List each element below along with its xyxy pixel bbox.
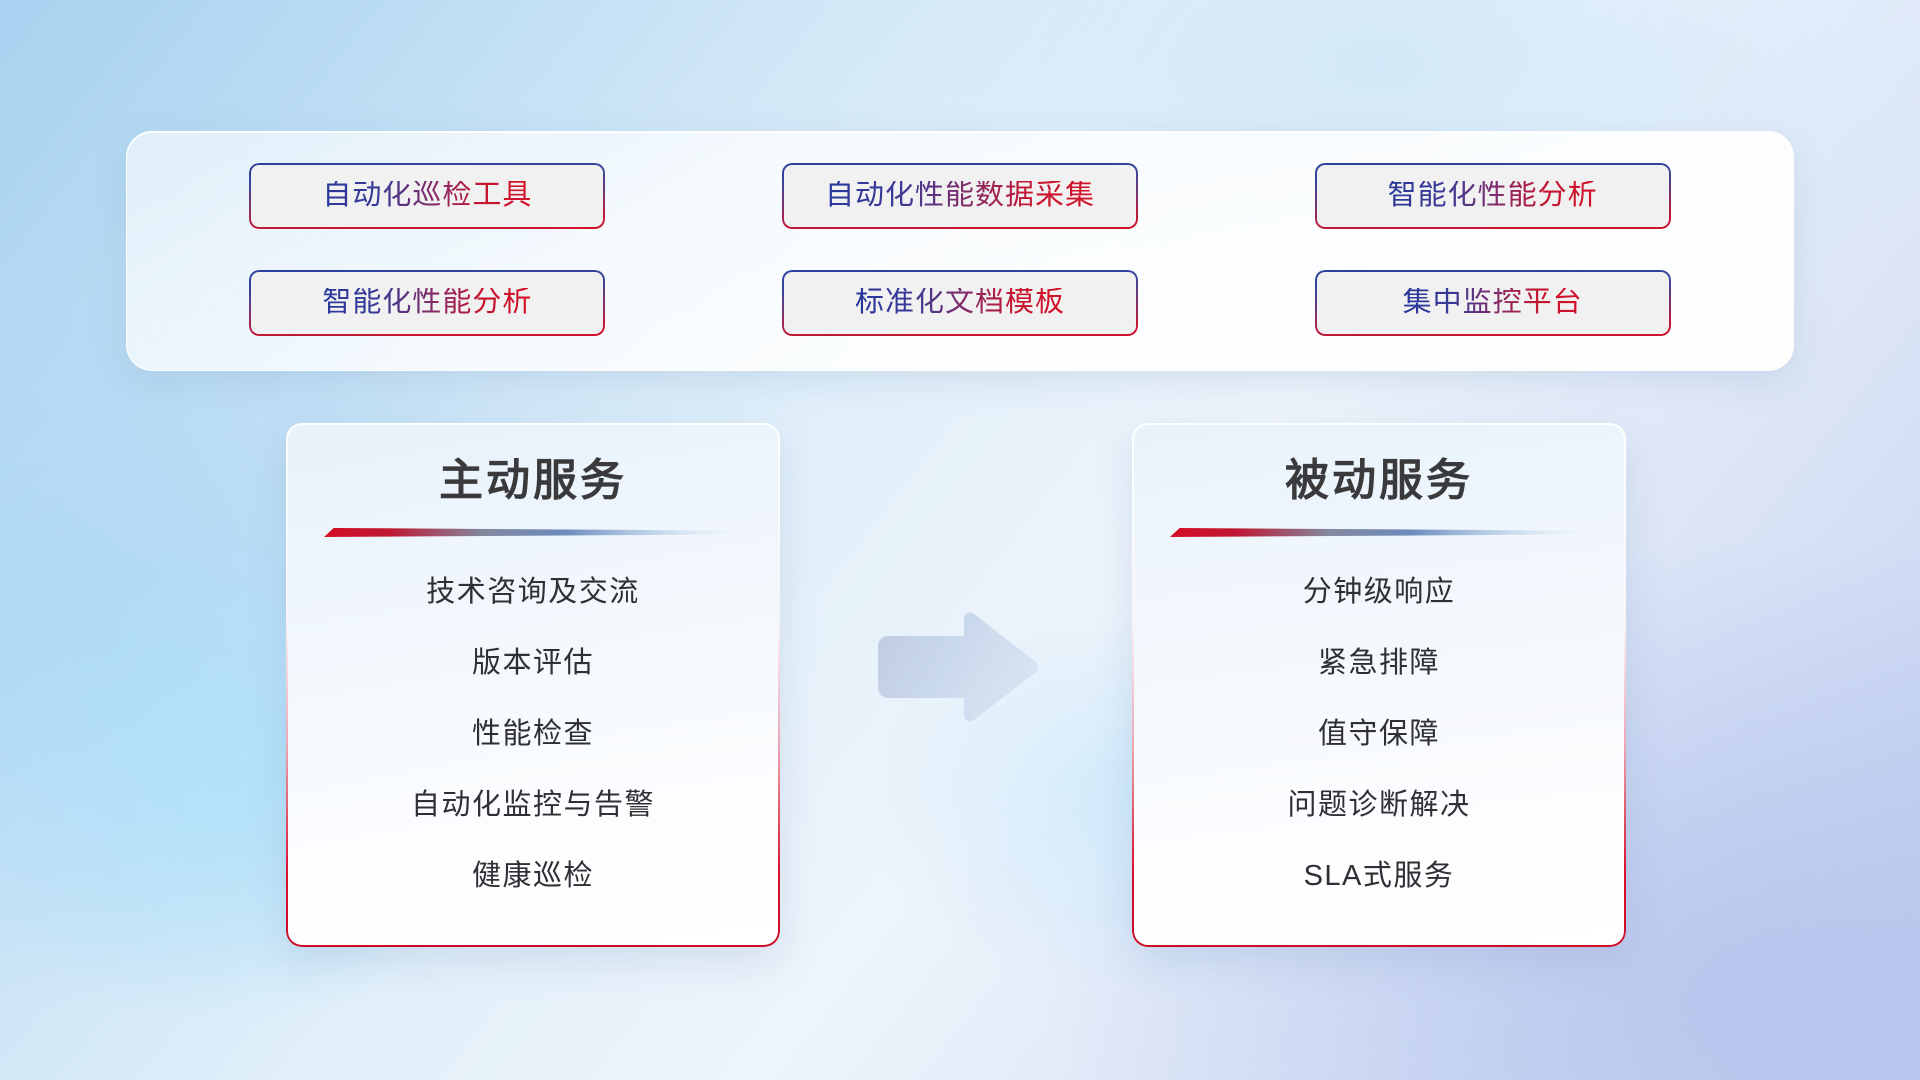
capability-panel: 自动化巡检工具 自动化性能数据采集 智能化性能分析 智能化性能分析 标准化文档模… — [126, 131, 1794, 371]
capability-pill-label: 集中监控平台 — [1403, 288, 1583, 317]
slide-canvas: 自动化巡检工具 自动化性能数据采集 智能化性能分析 智能化性能分析 标准化文档模… — [0, 0, 1920, 1080]
service-list-item: 技术咨询及交流 — [316, 557, 750, 628]
service-card-title: 主动服务 — [316, 457, 750, 505]
capability-pill-label: 自动化巡检工具 — [322, 181, 532, 210]
capability-pill-label: 智能化性能分析 — [322, 288, 532, 317]
service-list-item: 问题诊断解决 — [1162, 770, 1596, 841]
service-list-item: 自动化监控与告警 — [316, 770, 750, 841]
title-divider — [324, 528, 742, 537]
right-arrow-icon — [872, 612, 1042, 722]
service-list-item: 分钟级响应 — [1162, 557, 1596, 628]
service-list-item: SLA式服务 — [1162, 841, 1596, 912]
capability-pill-label: 智能化性能分析 — [1388, 181, 1598, 210]
capability-pill[interactable]: 标准化文档模板 — [782, 270, 1138, 336]
service-card-reactive: 被动服务 — [1132, 423, 1626, 947]
service-list-item: 性能检查 — [316, 699, 750, 770]
title-divider — [1170, 528, 1588, 537]
service-card-title: 被动服务 — [1162, 457, 1596, 505]
capability-pill[interactable]: 集中监控平台 — [1315, 270, 1671, 336]
capability-pill[interactable]: 智能化性能分析 — [1315, 163, 1671, 229]
capability-pill[interactable]: 自动化性能数据采集 — [782, 163, 1138, 229]
service-list-item: 版本评估 — [316, 628, 750, 699]
service-list-item: 健康巡检 — [316, 841, 750, 912]
service-card-proactive: 主动服务 — [286, 423, 780, 947]
service-list-item: 值守保障 — [1162, 699, 1596, 770]
capability-pill[interactable]: 智能化性能分析 — [249, 270, 605, 336]
service-list-item: 紧急排障 — [1162, 628, 1596, 699]
capability-pill-label: 自动化性能数据采集 — [825, 181, 1095, 210]
capability-pill[interactable]: 自动化巡检工具 — [249, 163, 605, 229]
service-item-list: 分钟级响应 紧急排障 值守保障 问题诊断解决 SLA式服务 — [1162, 537, 1596, 947]
service-item-list: 技术咨询及交流 版本评估 性能检查 自动化监控与告警 健康巡检 — [316, 537, 750, 947]
capability-pill-label: 标准化文档模板 — [855, 288, 1065, 317]
